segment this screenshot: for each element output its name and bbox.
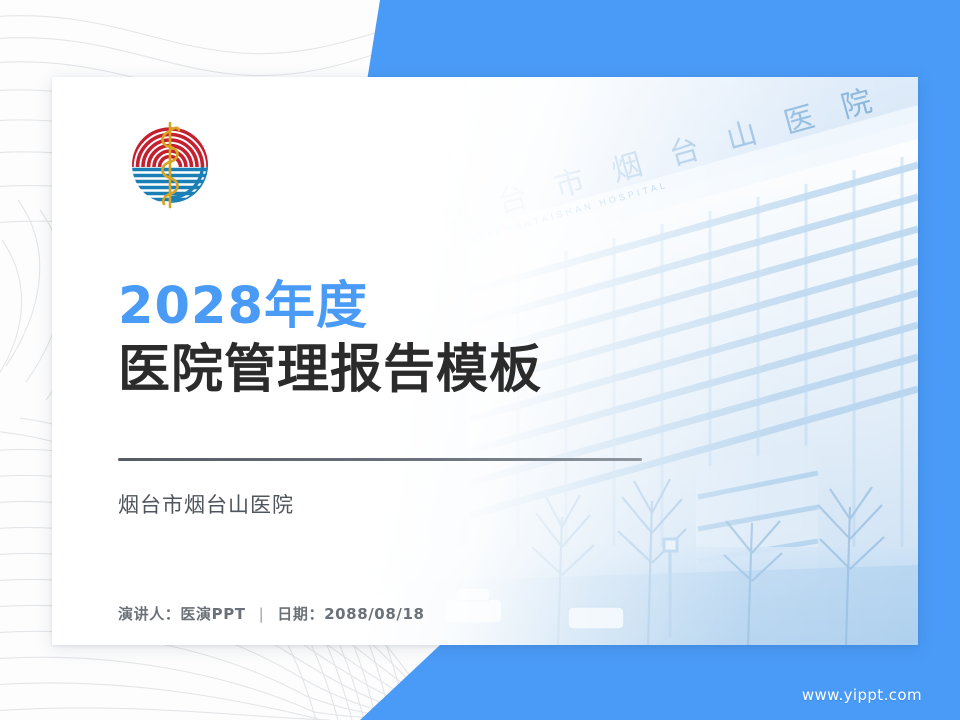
- hospital-logo-icon: [120, 115, 220, 215]
- slide-card: 烟 台 市 烟 台 山 医 院 YANTAI YANTAISHAN HOSPIT…: [52, 77, 918, 645]
- title-main: 医院管理报告模板: [118, 340, 738, 401]
- title-divider: [118, 458, 642, 461]
- presentation-slide: 烟 台 市 烟 台 山 医 院 YANTAI YANTAISHAN HOSPIT…: [0, 0, 960, 720]
- bottom-right-blue-wedge: [360, 645, 960, 720]
- right-blue-strip: [918, 230, 960, 645]
- presenter-name: 演讲人：医演PPT: [118, 603, 246, 624]
- meta-separator: |: [259, 605, 265, 623]
- presentation-date: 日期：2088/08/18: [277, 603, 424, 624]
- site-watermark: www.yippt.com: [802, 686, 922, 704]
- card-content: 2028年度 医院管理报告模板 烟台市烟台山医院 演讲人：医演PPT | 日期：…: [52, 77, 918, 645]
- presenter-meta: 演讲人：医演PPT | 日期：2088/08/18: [118, 603, 425, 624]
- title-year: 2028年度: [118, 277, 738, 336]
- title-block: 2028年度 医院管理报告模板: [118, 277, 738, 402]
- subtitle-organization: 烟台市烟台山医院: [118, 489, 294, 519]
